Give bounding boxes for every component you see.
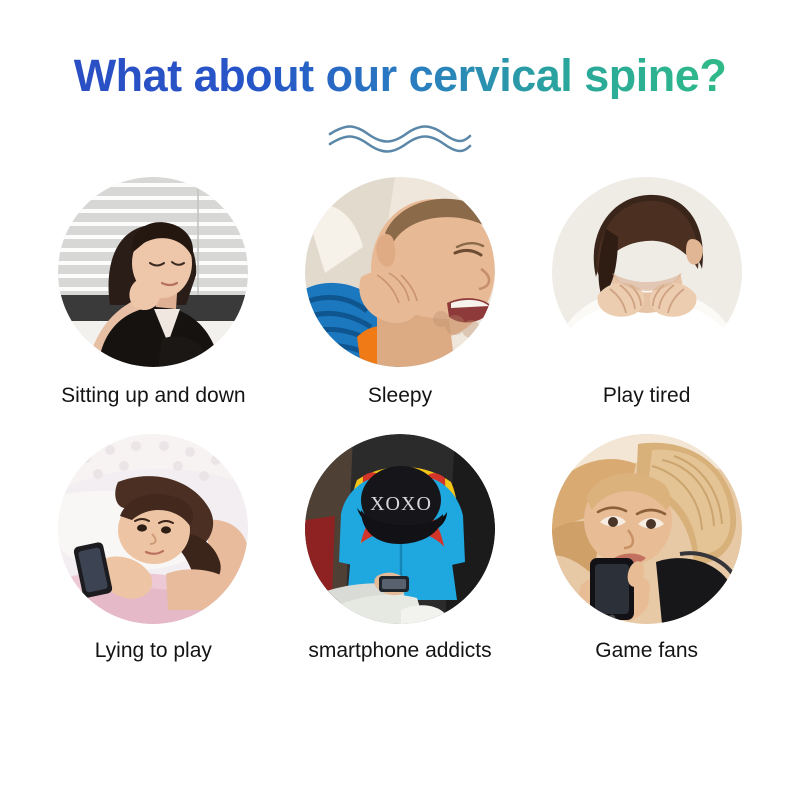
grid-item: XOXO smartphone addicts bbox=[280, 434, 520, 663]
photo-woman-resting-head-on-hand-at-desk bbox=[58, 177, 248, 367]
cap-text: XOXO bbox=[370, 493, 432, 515]
item-caption: smartphone addicts bbox=[308, 638, 491, 663]
photo-woman-massaging-neck-from-behind bbox=[552, 177, 742, 367]
illustration-game-fans bbox=[552, 434, 742, 624]
photo-person-in-cap-looking-down-at-phone: XOXO bbox=[305, 434, 495, 624]
wavy-line-divider bbox=[326, 121, 474, 155]
photo-blonde-woman-holding-phone bbox=[552, 434, 742, 624]
grid-item: Sitting up and down bbox=[33, 177, 273, 408]
page-title: What about our cervical spine? bbox=[74, 52, 727, 99]
illustration-play-tired bbox=[552, 177, 742, 367]
illustration-lying-to-play bbox=[58, 434, 248, 624]
photo-woman-lying-in-bed-with-phone bbox=[58, 434, 248, 624]
item-caption: Play tired bbox=[603, 383, 691, 408]
grid-item: Game fans bbox=[527, 434, 767, 663]
illustration-smartphone-addicts: XOXO bbox=[305, 434, 495, 624]
wave-icon bbox=[326, 123, 474, 153]
item-caption: Sleepy bbox=[368, 383, 432, 408]
poster-root: What about our cervical spine? bbox=[0, 0, 800, 800]
grid-item: Lying to play bbox=[33, 434, 273, 663]
grid-item: Play tired bbox=[527, 177, 767, 408]
item-caption: Game fans bbox=[595, 638, 698, 663]
illustration-sitting-up-and-down bbox=[58, 177, 248, 367]
illustration-sleepy bbox=[305, 177, 495, 367]
photo-man-grimacing-holding-neck bbox=[305, 177, 495, 367]
grid-item: Sleepy bbox=[280, 177, 520, 408]
item-caption: Sitting up and down bbox=[61, 383, 245, 408]
condition-grid: Sitting up and down bbox=[30, 177, 770, 663]
item-caption: Lying to play bbox=[95, 638, 212, 663]
